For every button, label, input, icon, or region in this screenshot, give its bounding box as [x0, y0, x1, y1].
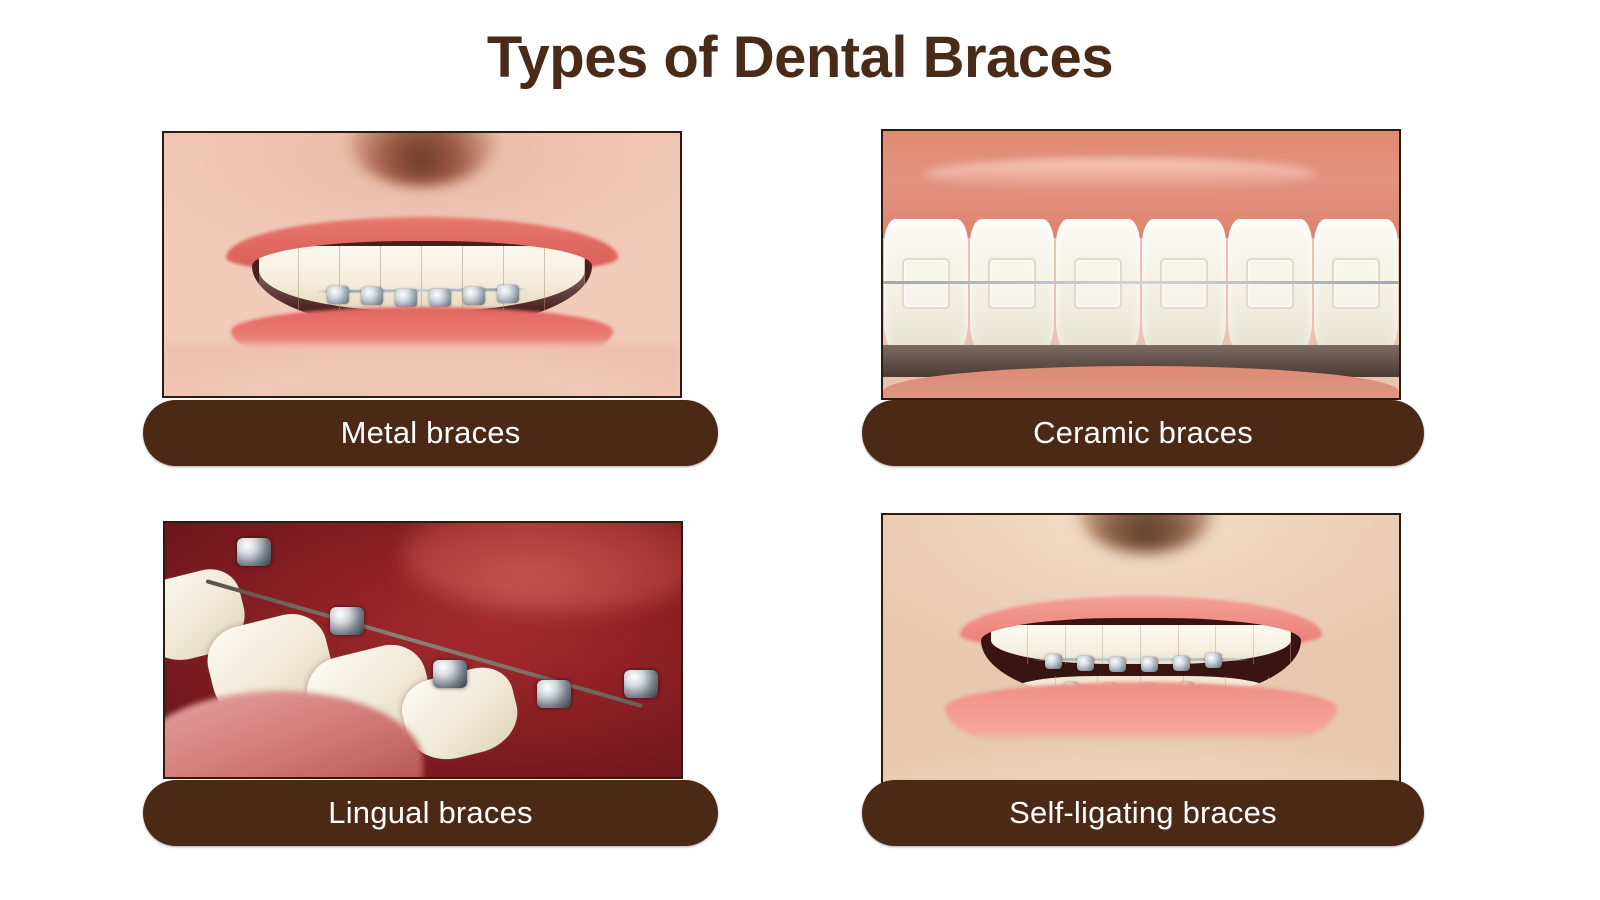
- bracket-icon: [237, 538, 271, 566]
- bracket-icon: [361, 287, 383, 305]
- card-metal-braces: [162, 131, 682, 398]
- upper-teeth: [883, 219, 1399, 358]
- chin: [164, 343, 680, 398]
- bracket-icon: [1141, 657, 1158, 672]
- bracket-icon: [537, 680, 571, 708]
- archwire: [883, 281, 1399, 284]
- poster-root: Types of Dental Braces Metal braces: [0, 0, 1600, 900]
- bracket-icon: [395, 289, 417, 307]
- bracket-icon: [1173, 656, 1190, 671]
- page-title: Types of Dental Braces: [0, 24, 1600, 91]
- label-lingual-braces[interactable]: Lingual braces: [143, 780, 718, 846]
- bracket-icon: [429, 289, 451, 307]
- bracket-icon: [624, 670, 658, 698]
- photo-self-ligating-braces: [881, 513, 1401, 787]
- photo-metal-braces: [162, 131, 682, 398]
- bracket-icon: [1045, 654, 1062, 669]
- gum-highlight: [924, 158, 1316, 190]
- bracket-icon: [1109, 657, 1126, 672]
- card-ceramic-braces: [881, 129, 1401, 400]
- card-self-ligating-braces: [881, 513, 1401, 787]
- bracket-icon: [497, 285, 519, 303]
- upper-teeth: [259, 246, 586, 310]
- bracket-icon: [463, 287, 485, 305]
- bracket-icon: [330, 607, 364, 635]
- bracket-icon: [433, 660, 467, 688]
- label-metal-braces[interactable]: Metal braces: [143, 400, 718, 466]
- bracket-icon: [1077, 656, 1094, 671]
- label-ceramic-braces[interactable]: Ceramic braces: [862, 400, 1424, 466]
- label-self-ligating-braces[interactable]: Self-ligating braces: [862, 780, 1424, 846]
- photo-lingual-braces: [163, 521, 683, 779]
- photo-ceramic-braces: [881, 129, 1401, 400]
- bracket-icon: [327, 286, 349, 304]
- bracket-icon: [1205, 653, 1222, 668]
- card-lingual-braces: [163, 521, 683, 779]
